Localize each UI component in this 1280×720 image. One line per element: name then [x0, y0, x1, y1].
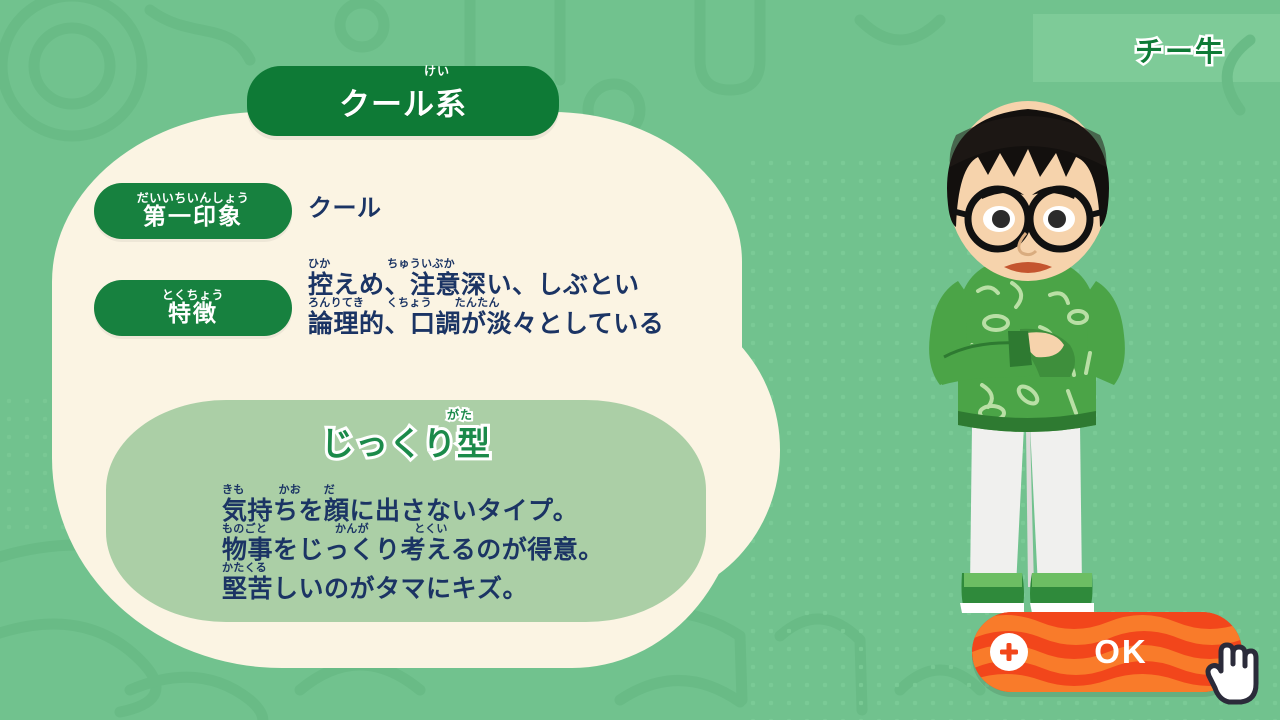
mii-name-tag: チー牛 [1100, 32, 1260, 68]
mii-name-text: チー牛 [1135, 30, 1225, 70]
field-label-text-first-impression: 第一印象 [143, 205, 243, 230]
hand-cursor [1205, 638, 1263, 708]
personality-type-description: きも かお だ 気持ちを顔に出さないタイプ。 ものごと かんが とくい 物事をじ… [222, 484, 604, 601]
field-ruby-traits: とくちょう [162, 289, 224, 302]
ok-button[interactable]: OK [972, 612, 1242, 692]
personality-title-text: クール系 [339, 90, 467, 121]
field-label-first-impression: だいいちいんしょう 第一印象 [94, 183, 292, 239]
field-value-traits: ひか ちゅういぶか 控えめ、注意深い、しぶとい ろんりてき くちょう たんたん … [308, 258, 664, 336]
field-value-line: クール [308, 196, 382, 220]
field-value-first-impression: クール [308, 196, 382, 220]
field-label-traits: とくちょう 特徴 [94, 280, 292, 336]
field-label-text-traits: 特徴 [168, 302, 218, 327]
field-value-line: 論理的、口調が淡々としている [308, 311, 664, 336]
field-ruby-first-impression: だいいちいんしょう [137, 192, 250, 205]
personality-title-banner: クール系 [247, 66, 559, 136]
personality-type-title-text: じっくり型 [321, 417, 491, 465]
personality-title-ruby: けい [424, 62, 450, 79]
ok-button-label: OK [972, 612, 1242, 692]
description-line: 気持ちを顔に出さないタイプ。 [222, 498, 604, 523]
description-line: 物事をじっくり考えるのが得意。 [222, 537, 604, 562]
mii-character-avatar [900, 95, 1160, 625]
field-value-line: 控えめ、注意深い、しぶとい [308, 272, 664, 297]
mii-personality-result-screen: チー牛 クール系 けい だいいちいんしょう 第一印象 クール とくちょう 特徴 … [0, 0, 1280, 720]
personality-type-title: じっくり型 [106, 418, 706, 464]
description-line: 堅苦しいのがタマにキズ。 [222, 576, 604, 601]
